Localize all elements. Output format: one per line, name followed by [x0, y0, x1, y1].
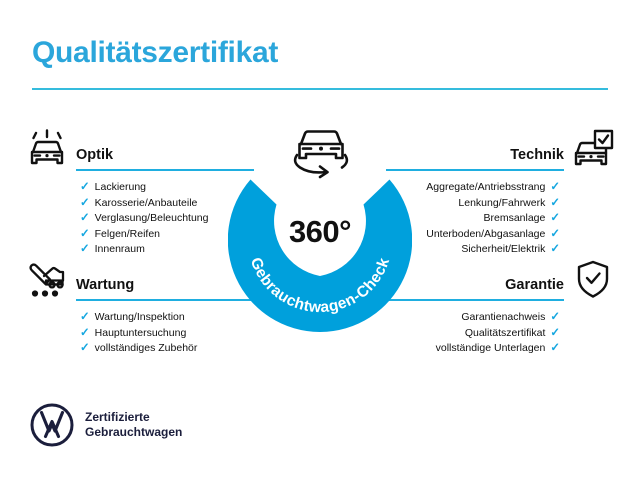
section-list: ✓Lackierung ✓Karosserie/Anbauteile ✓Verg…: [24, 174, 254, 258]
car-checkbox-icon: [570, 128, 616, 172]
list-item-label: vollständige Unterlagen: [436, 341, 546, 357]
vw-footer-line1: Zertifizierte: [85, 410, 182, 425]
list-item-label: Sicherheit/Elektrik: [461, 242, 545, 258]
vw-footer-line2: Gebrauchtwagen: [85, 425, 182, 440]
check-icon: ✓: [550, 180, 560, 196]
check-icon: ✓: [550, 196, 560, 212]
list-item-label: Aggregate/Antriebsstrang: [426, 180, 545, 196]
list-item-label: Qualitätszertifikat: [465, 326, 546, 342]
list-item-label: Bremsanlage: [483, 211, 545, 227]
list-item-label: Hauptuntersuchung: [95, 326, 187, 342]
list-item-label: Felgen/Reifen: [95, 227, 160, 243]
list-item-label: vollständiges Zubehör: [95, 341, 198, 357]
section-title: Wartung: [76, 277, 134, 293]
section-header: Optik: [24, 128, 254, 174]
check-icon: ✓: [80, 196, 90, 212]
list-item-label: Karosserie/Anbauteile: [95, 196, 198, 212]
section-title: Garantie: [505, 277, 564, 293]
list-item: ✓vollständiges Zubehör: [80, 341, 254, 357]
list-item-label: Verglasung/Beleuchtung: [95, 211, 209, 227]
check-icon: ✓: [550, 326, 560, 342]
360-check-badge: Gebrauchtwagen-Check 360°: [228, 148, 412, 332]
check-icon: ✓: [550, 227, 560, 243]
check-icon: ✓: [80, 310, 90, 326]
car-shine-icon: [24, 128, 70, 172]
list-item-label: Wartung/Inspektion: [95, 310, 185, 326]
list-item: vollständige Unterlagen✓: [386, 341, 560, 357]
check-icon: ✓: [80, 180, 90, 196]
check-icon: ✓: [80, 341, 90, 357]
list-item: Aggregate/Antriebsstrang✓: [386, 180, 560, 196]
section-header: Wartung: [24, 258, 254, 304]
list-item: Qualitätszertifikat✓: [386, 326, 560, 342]
vw-footer: Zertifizierte Gebrauchtwagen: [30, 403, 182, 447]
shield-check-icon: [570, 258, 616, 302]
check-icon: ✓: [80, 227, 90, 243]
section-list: Garantienachweis✓ Qualitätszertifikat✓ v…: [386, 304, 616, 357]
section-header: Garantie: [386, 258, 616, 304]
list-item: Lenkung/Fahrwerk✓: [386, 196, 560, 212]
section-list: ✓Wartung/Inspektion ✓Hauptuntersuchung ✓…: [24, 304, 254, 357]
check-icon: ✓: [80, 326, 90, 342]
list-item-label: Garantienachweis: [461, 310, 545, 326]
vw-footer-text: Zertifizierte Gebrauchtwagen: [85, 410, 182, 440]
check-icon: ✓: [550, 341, 560, 357]
check-icon: ✓: [80, 242, 90, 258]
check-icon: ✓: [80, 211, 90, 227]
list-item: Sicherheit/Elektrik✓: [386, 242, 560, 258]
check-icon: ✓: [550, 211, 560, 227]
certificate-page: Qualitätszertifikat: [0, 0, 640, 480]
list-item: Garantienachweis✓: [386, 310, 560, 326]
check-icon: ✓: [550, 310, 560, 326]
list-item: Unterboden/Abgasanlage✓: [386, 227, 560, 243]
check-icon: ✓: [550, 242, 560, 258]
list-item-label: Unterboden/Abgasanlage: [426, 227, 545, 243]
list-item-label: Lenkung/Fahrwerk: [458, 196, 545, 212]
section-underline: [386, 299, 564, 301]
title-divider: [32, 88, 608, 90]
car-wrench-icon: [24, 258, 70, 302]
section-title: Optik: [76, 147, 113, 163]
section-underline: [386, 169, 564, 171]
car-rotate-icon: [286, 122, 356, 184]
section-garantie: Garantie Garantienachweis✓ Qualitätszert…: [386, 258, 616, 357]
vw-logo: [30, 403, 74, 447]
section-title: Technik: [510, 147, 564, 163]
section-optik: Optik ✓Lackierung ✓Karosserie/Anbauteile…: [24, 128, 254, 258]
section-list: Aggregate/Antriebsstrang✓ Lenkung/Fahrwe…: [386, 174, 616, 258]
page-title: Qualitätszertifikat: [32, 36, 278, 70]
list-item: Bremsanlage✓: [386, 211, 560, 227]
list-item-label: Innenraum: [95, 242, 145, 258]
list-item-label: Lackierung: [95, 180, 146, 196]
section-header: Technik: [386, 128, 616, 174]
section-technik: Technik Aggregate/Antriebsstrang✓ Lenkun…: [386, 128, 616, 258]
section-wartung: Wartung ✓Wartung/Inspektion ✓Hauptunters…: [24, 258, 254, 357]
degrees-label: 360°: [228, 214, 412, 250]
